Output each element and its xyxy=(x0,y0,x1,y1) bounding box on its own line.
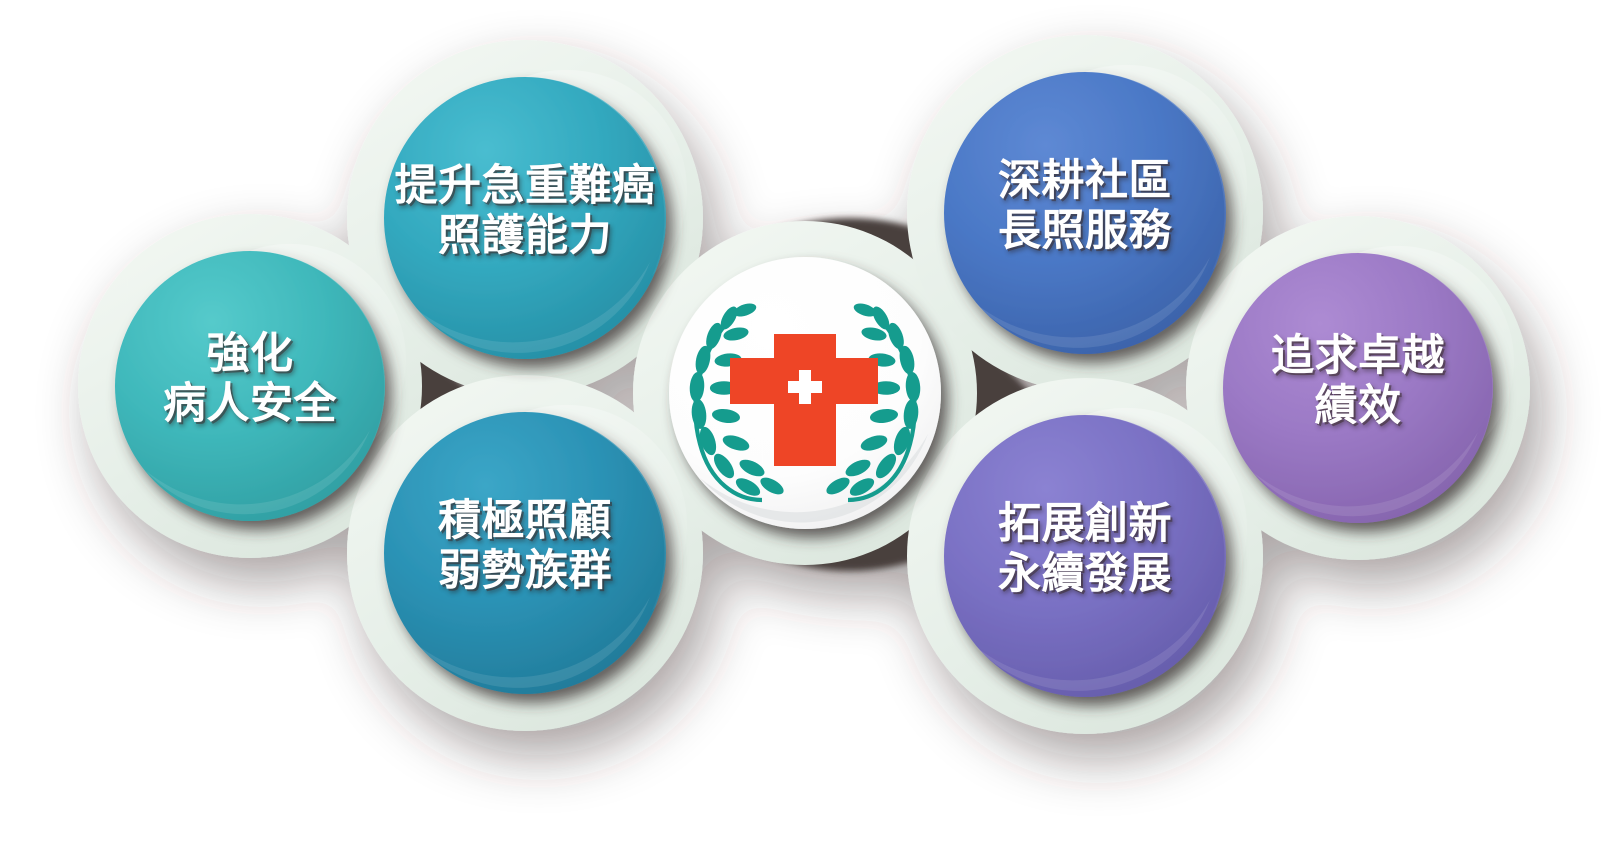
center-emblem-disc[interactable] xyxy=(669,257,941,529)
colour-discs xyxy=(115,65,1514,697)
diagram-canvas: 強化 病人安全 提升急重難癌 照護能力 積極照顧 弱勢族群 深耕社區 長照服務 … xyxy=(0,0,1605,850)
circle-cluster-diagram xyxy=(0,0,1605,850)
